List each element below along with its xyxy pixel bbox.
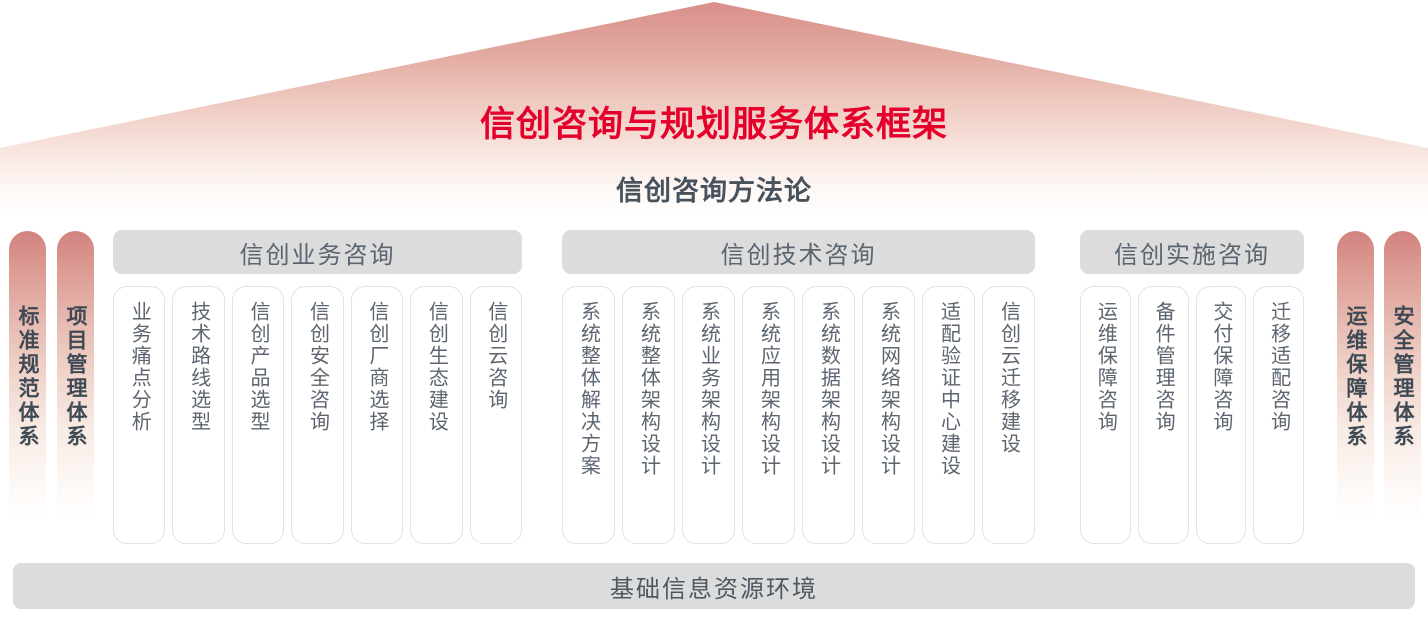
card-label: 备件管理咨询	[1148, 301, 1178, 433]
card-label: 系统数据架构设计	[814, 301, 844, 477]
card-item[interactable]: 系统数据架构设计	[802, 286, 855, 544]
card-item[interactable]: 系统网络架构设计	[862, 286, 915, 544]
card-label: 系统网络架构设计	[874, 301, 904, 477]
card-item[interactable]: 系统应用架构设计	[742, 286, 795, 544]
card-label: 技术路线选型	[184, 301, 214, 433]
card-item[interactable]: 备件管理咨询	[1138, 286, 1189, 544]
card-label: 信创厂商选择	[362, 301, 392, 433]
pillar-project-management[interactable]: 项目管理体系	[57, 231, 94, 545]
card-label: 信创云迁移建设	[994, 301, 1024, 455]
card-label: 系统业务架构设计	[694, 301, 724, 477]
pillar-label: 运维保障体系	[1337, 305, 1374, 449]
page-title: 信创咨询与规划服务体系框架	[0, 96, 1428, 147]
card-label: 信创产品选型	[243, 301, 273, 433]
page-subtitle: 信创咨询方法论	[0, 169, 1428, 208]
card-item[interactable]: 信创厂商选择	[351, 286, 403, 544]
diagram-canvas: 信创咨询与规划服务体系框架 信创咨询方法论 标准规范体系 项目管理体系 运维保障…	[0, 0, 1428, 627]
card-item[interactable]: 信创云咨询	[470, 286, 522, 544]
pillar-operations-assurance[interactable]: 运维保障体系	[1337, 231, 1374, 545]
pillar-label: 安全管理体系	[1384, 305, 1421, 449]
pillar-security-management[interactable]: 安全管理体系	[1384, 231, 1421, 545]
group-card-list: 运维保障咨询 备件管理咨询 交付保障咨询 迁移适配咨询	[1080, 286, 1304, 544]
group-card-list: 系统整体解决方案 系统整体架构设计 系统业务架构设计 系统应用架构设计 系统数据…	[562, 286, 1035, 544]
group-card-list: 业务痛点分析 技术路线选型 信创产品选型 信创安全咨询 信创厂商选择 信创生态建…	[113, 286, 522, 544]
card-label: 系统整体解决方案	[574, 301, 604, 477]
card-label: 信创生态建设	[421, 301, 451, 433]
card-label: 适配验证中心建设	[934, 301, 964, 477]
card-item[interactable]: 迁移适配咨询	[1253, 286, 1304, 544]
card-item[interactable]: 技术路线选型	[172, 286, 224, 544]
group-header[interactable]: 信创技术咨询	[562, 230, 1035, 274]
group-header[interactable]: 信创实施咨询	[1080, 230, 1304, 274]
card-label: 信创云咨询	[481, 301, 511, 411]
card-label: 信创安全咨询	[302, 301, 332, 433]
pillar-standard-specification[interactable]: 标准规范体系	[9, 231, 46, 545]
base-foundation-bar[interactable]: 基础信息资源环境	[13, 563, 1415, 609]
card-label: 运维保障咨询	[1090, 301, 1120, 433]
card-item[interactable]: 适配验证中心建设	[922, 286, 975, 544]
card-item[interactable]: 系统整体架构设计	[622, 286, 675, 544]
group-technology-consulting: 信创技术咨询 系统整体解决方案 系统整体架构设计 系统业务架构设计 系统应用架构…	[562, 230, 1035, 544]
card-label: 迁移适配咨询	[1264, 301, 1294, 433]
card-item[interactable]: 信创安全咨询	[291, 286, 343, 544]
card-label: 系统应用架构设计	[754, 301, 784, 477]
card-item[interactable]: 系统业务架构设计	[682, 286, 735, 544]
card-label: 交付保障咨询	[1206, 301, 1236, 433]
card-item[interactable]: 交付保障咨询	[1196, 286, 1247, 544]
group-business-consulting: 信创业务咨询 业务痛点分析 技术路线选型 信创产品选型 信创安全咨询 信创厂商选…	[113, 230, 522, 544]
group-implementation-consulting: 信创实施咨询 运维保障咨询 备件管理咨询 交付保障咨询 迁移适配咨询	[1080, 230, 1304, 544]
pillar-label: 标准规范体系	[9, 305, 46, 449]
card-item[interactable]: 信创云迁移建设	[982, 286, 1035, 544]
card-label: 系统整体架构设计	[634, 301, 664, 477]
card-item[interactable]: 运维保障咨询	[1080, 286, 1131, 544]
card-item[interactable]: 系统整体解决方案	[562, 286, 615, 544]
group-header[interactable]: 信创业务咨询	[113, 230, 522, 274]
card-item[interactable]: 业务痛点分析	[113, 286, 165, 544]
pillar-label: 项目管理体系	[57, 305, 94, 449]
card-item[interactable]: 信创产品选型	[232, 286, 284, 544]
card-label: 业务痛点分析	[124, 301, 154, 433]
card-item[interactable]: 信创生态建设	[410, 286, 462, 544]
